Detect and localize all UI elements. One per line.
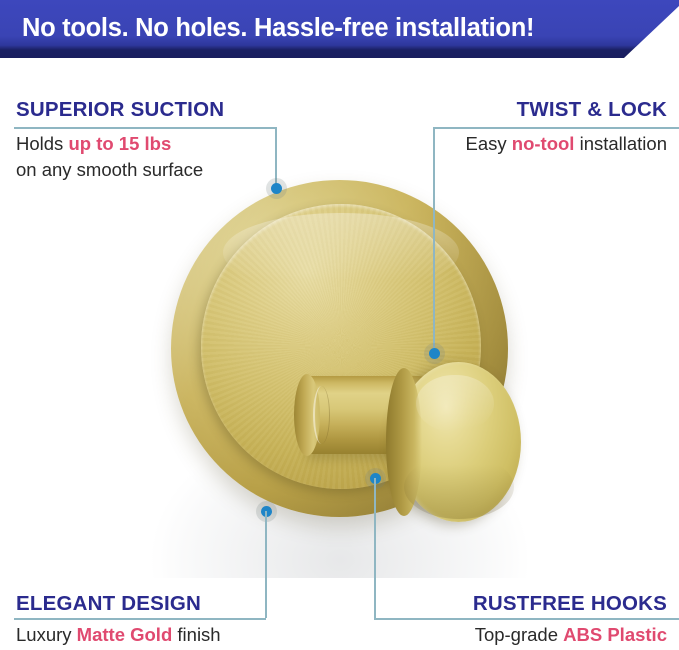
hook-knob-head [396,362,521,522]
hook-post-ring [313,386,330,444]
callout-heading-superior-suction: SUPERIOR SUCTION [16,98,224,122]
hook-knob-highlight [416,375,494,433]
product-infographic: No tools. No holes. Hassle-free installa… [0,0,679,650]
callout-text-post: finish [172,624,220,645]
callout-heading-twist-lock: TWIST & LOCK [517,98,667,122]
callout-text-pre: Holds [16,133,68,154]
leader-line-elegant-design-horizontal [14,618,266,620]
callout-text-pre: Easy [465,133,511,154]
callout-text-highlight: Matte Gold [77,624,173,645]
callout-text-pre: Luxury [16,624,77,645]
leader-line-twist-lock-horizontal [433,127,679,129]
callout-text-highlight: ABS Plastic [563,624,667,645]
callout-text-line2: on any smooth surface [16,159,203,180]
callout-text-highlight: up to 15 lbs [68,133,171,154]
callout-heading-elegant-design: ELEGANT DESIGN [16,592,201,616]
callout-dot-superior-suction [271,183,282,194]
leader-line-superior-suction-horizontal [14,127,276,129]
inner-disc-highlight [223,213,458,293]
callout-body-elegant-design: Luxury Matte Gold finish [16,622,221,648]
leader-line-rustfree-hooks-vertical [374,478,376,618]
callout-body-twist-lock: Easy no-tool installation [465,131,667,157]
callout-text-highlight: no-tool [512,133,575,154]
callout-text-pre: Top-grade [475,624,563,645]
callout-heading-rustfree-hooks: RUSTFREE HOOKS [473,592,667,616]
leader-line-rustfree-hooks-horizontal [374,618,679,620]
callout-dot-twist-lock [429,348,440,359]
leader-line-twist-lock-vertical [433,127,435,353]
callout-body-rustfree-hooks: Top-grade ABS Plastic [475,622,667,648]
hook-knob-shadow [404,455,514,519]
top-banner: No tools. No holes. Hassle-free installa… [0,0,679,58]
leader-line-superior-suction-vertical [275,127,277,188]
callout-body-superior-suction: Holds up to 15 lbs on any smooth surface [16,131,203,183]
leader-line-elegant-design-vertical [265,511,267,618]
callout-text-post: installation [574,133,667,154]
banner-headline: No tools. No holes. Hassle-free installa… [22,6,534,50]
